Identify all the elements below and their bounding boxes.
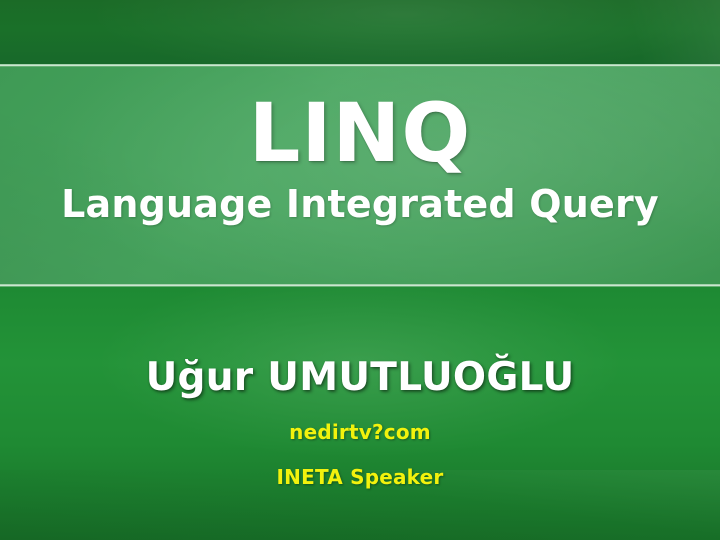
speaker-block: Uğur UMUTLUOĞLU nedirtv?com INETA Speake… [0,358,720,489]
speaker-name: Uğur UMUTLUOĞLU [0,358,720,399]
speaker-website: nedirtv?com [0,420,720,444]
slide-content: LINQ Language Integrated Query Uğur UMUT… [0,0,720,540]
slide-title: LINQ [0,95,720,174]
presentation-slide: LINQ Language Integrated Query Uğur UMUT… [0,0,720,540]
slide-subtitle: Language Integrated Query [0,182,720,226]
title-block: LINQ Language Integrated Query [0,95,720,226]
speaker-role: INETA Speaker [0,465,720,489]
